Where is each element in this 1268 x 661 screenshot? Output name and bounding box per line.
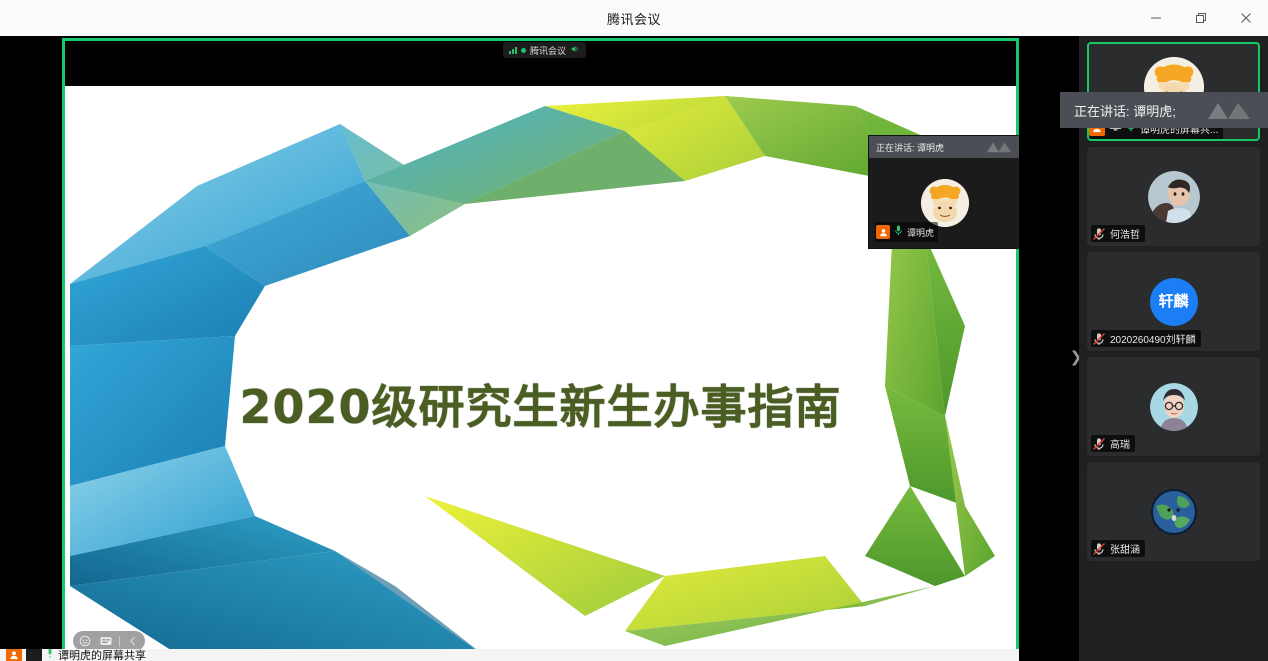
- shared-screen-stage: 腾讯会议: [0, 36, 1060, 661]
- participant-name: 2020260490刘轩麟: [1110, 331, 1196, 346]
- wechat-logo-icon: [985, 140, 1015, 159]
- screen-share-icon: [26, 649, 42, 661]
- green-dot-icon: [521, 48, 526, 53]
- chevron-left-icon[interactable]: [125, 633, 141, 649]
- mic-muted-icon: [1092, 332, 1106, 346]
- participant-tile-hehaozhe[interactable]: 何浩哲: [1087, 147, 1260, 246]
- speaking-now-text: 正在讲话: 谭明虎;: [1074, 101, 1176, 120]
- minimize-button[interactable]: [1133, 0, 1178, 36]
- participant-nameplate: 2020260490刘轩麟: [1091, 330, 1201, 347]
- participant-name: 高瑞: [1110, 436, 1130, 451]
- participant-tile-liuxuanlin[interactable]: 轩麟 2020260490刘轩麟: [1087, 252, 1260, 351]
- tiger-hat-avatar: [921, 179, 969, 227]
- floating-window-title: 正在讲话: 谭明虎: [876, 141, 944, 154]
- toolbar-divider: [119, 636, 120, 647]
- mic-muted-icon: [1092, 542, 1106, 556]
- window-title-bar: 腾讯会议: [0, 0, 1268, 36]
- pen-smiley-icon[interactable]: [77, 633, 93, 649]
- speaking-now-banner: 正在讲话: 谭明虎;: [1060, 92, 1268, 128]
- host-badge-icon: [6, 649, 22, 661]
- wechat-logo-icon: [1206, 100, 1254, 125]
- participant-nameplate: 张甜涵: [1091, 540, 1145, 557]
- speaker-icon[interactable]: [570, 41, 580, 59]
- mic-muted-icon: [1092, 437, 1106, 451]
- meeting-status-chip[interactable]: 腾讯会议: [503, 42, 586, 58]
- close-button[interactable]: [1223, 0, 1268, 36]
- participant-name: 何浩哲: [1110, 226, 1140, 241]
- signal-bars-icon: [509, 46, 517, 54]
- mic-on-icon: [894, 223, 903, 241]
- participant-name: 张甜涵: [1110, 541, 1140, 556]
- subtitle-icon[interactable]: [98, 633, 114, 649]
- mic-on-icon: [46, 649, 54, 661]
- initials-avatar: 轩麟: [1150, 278, 1198, 326]
- slide-title-text: 2020级研究生新生办事指南: [65, 371, 1016, 437]
- screen-share-status-label: 谭明虎的屏幕共享: [58, 649, 146, 661]
- cartoon-avatar: [1150, 383, 1198, 431]
- participants-sidebar: 谭明虎的屏幕共...: [1079, 36, 1268, 661]
- host-badge-icon: [876, 225, 890, 239]
- participant-tile-gaorui[interactable]: 高瑞: [1087, 357, 1260, 456]
- participant-tile-zhangtianhan[interactable]: 张甜涵: [1087, 462, 1260, 561]
- screen-share-status-bar[interactable]: 谭明虎的屏幕共享: [0, 649, 1019, 661]
- participant-nameplate: 何浩哲: [1091, 225, 1145, 242]
- maximize-button[interactable]: [1178, 0, 1223, 36]
- floating-window-header: 正在讲话: 谭明虎: [869, 136, 1021, 158]
- window-controls: [1133, 0, 1268, 36]
- screen-share-border-corner: [62, 38, 90, 41]
- presenter-toolbar[interactable]: [73, 631, 145, 651]
- floating-window-participant-name: 谭明虎: [907, 226, 934, 239]
- page-title: 腾讯会议: [607, 9, 661, 28]
- avatar-initials-text: 轩麟: [1158, 294, 1188, 309]
- floating-window-nameplate: 谭明虎: [875, 222, 938, 242]
- earth-avatar: [1150, 488, 1198, 536]
- mic-muted-icon: [1092, 227, 1106, 241]
- participant-nameplate: 高瑞: [1091, 435, 1135, 452]
- photo-avatar: [1148, 171, 1200, 223]
- floating-video-window[interactable]: 正在讲话: 谭明虎: [869, 136, 1021, 248]
- meeting-chip-label: 腾讯会议: [530, 44, 566, 57]
